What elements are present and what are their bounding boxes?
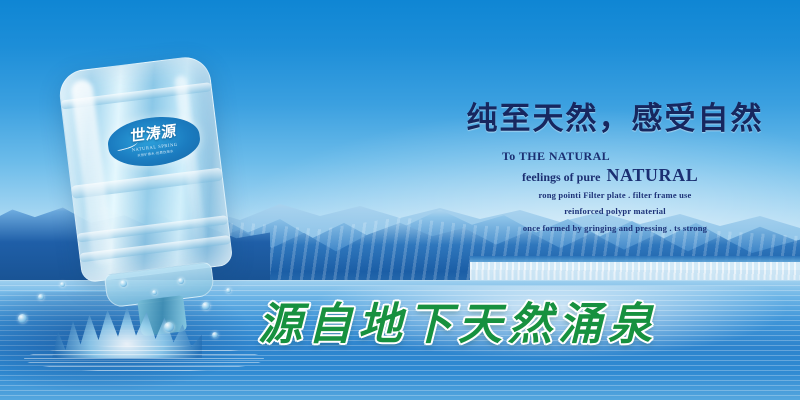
splash-ripple <box>24 346 264 372</box>
water-droplet <box>120 280 127 287</box>
water-splash <box>14 276 264 368</box>
water-droplet <box>60 282 65 287</box>
copy-line-one: To THE NATURAL <box>450 149 780 164</box>
water-droplet <box>164 322 174 332</box>
copy-line-two-big: NATURAL <box>606 165 698 185</box>
water-droplet <box>152 290 157 295</box>
water-droplet <box>226 288 231 293</box>
copy-fine-line-2: reinforced polypr material <box>450 205 780 218</box>
water-droplet <box>18 314 27 323</box>
marketing-copy-block: 纯至天然，感受自然 To THE NATURAL feelings of pur… <box>450 100 780 235</box>
copy-line-two-small: feelings of pure <box>522 170 600 184</box>
water-droplet <box>178 278 184 284</box>
copy-fine-line-1: rong pointi Filter plate . filter frame … <box>450 189 780 202</box>
copy-headline-chinese: 纯至天然，感受自然 <box>450 100 780 137</box>
water-droplet <box>202 302 210 310</box>
bottom-headline: 源自地下天然涌泉 <box>258 288 708 352</box>
copy-fine-line-3: once formed by gringing and pressing . t… <box>450 222 780 235</box>
water-droplet <box>38 294 44 300</box>
copy-line-two: feelings of pureNATURAL <box>450 165 780 186</box>
water-brand-banner: 世涛源 NATURAL SPRING 天然矿泉水·优质饮用水 纯至天然，感受自然… <box>0 0 800 400</box>
water-droplet <box>212 332 218 338</box>
